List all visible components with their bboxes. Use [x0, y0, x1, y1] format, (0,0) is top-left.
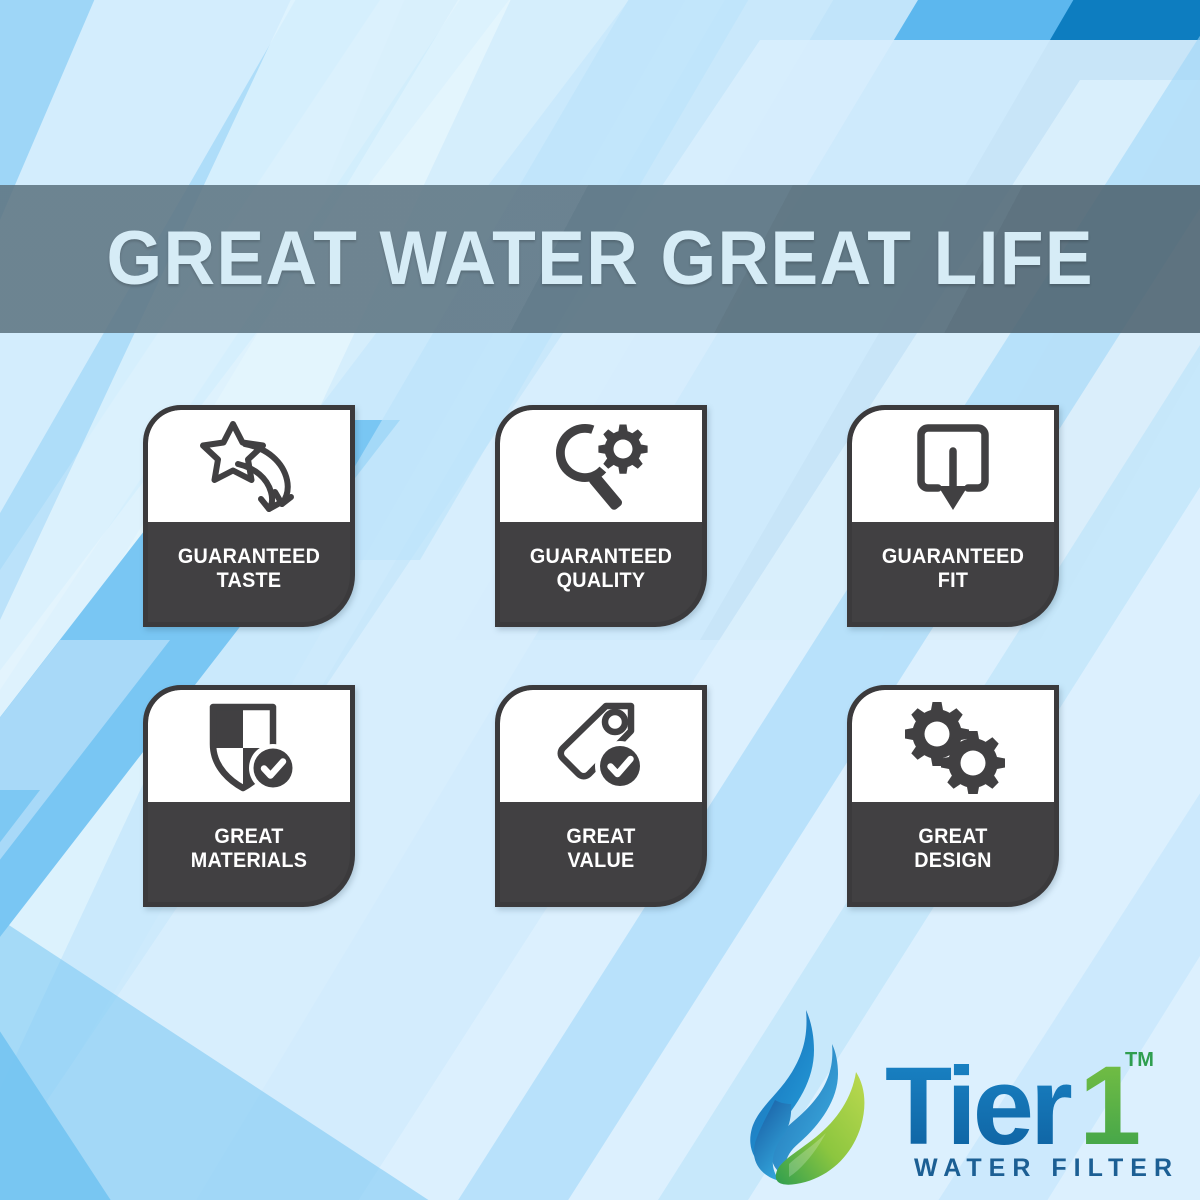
feature-card-guaranteed-fit[interactable]: GUARANTEED FIT [847, 405, 1059, 627]
price-tag-check-icon [500, 690, 702, 802]
feature-card-guaranteed-taste[interactable]: GUARANTEED TASTE [143, 405, 355, 627]
feature-card-label: GREAT MATERIALS [156, 802, 342, 902]
feature-card-great-materials[interactable]: GREAT MATERIALS [143, 685, 355, 907]
logo-brand-tier: Tier [885, 1045, 1072, 1168]
feature-card-great-value[interactable]: GREAT VALUE [495, 685, 707, 907]
feature-card-guaranteed-quality[interactable]: GUARANTEED QUALITY [495, 405, 707, 627]
magnifier-gear-icon [500, 410, 702, 522]
insert-down-arrow-icon [852, 410, 1054, 522]
logo-trademark: TM [1125, 1049, 1154, 1071]
feature-card-label: GREAT VALUE [508, 802, 694, 902]
logo-tagline: WATER FILTERS [914, 1154, 1172, 1182]
page-title: GREAT WATER GREAT LIFE [106, 221, 1093, 297]
feature-card-label: GUARANTEED QUALITY [508, 522, 694, 622]
poster-root: GREAT WATER GREAT LIFE GUARANTEED TASTE [0, 0, 1200, 1200]
feature-card-label: GREAT DESIGN [860, 802, 1046, 902]
feature-card-label: GUARANTEED TASTE [156, 522, 342, 622]
feature-card-label: GUARANTEED FIT [860, 522, 1046, 622]
feature-card-great-design[interactable]: GREAT DESIGN [847, 685, 1059, 907]
two-gears-icon [852, 690, 1054, 802]
shooting-star-icon [148, 410, 350, 522]
shield-check-icon [148, 690, 350, 802]
water-drop-leaf-mark [750, 1010, 864, 1185]
tier1-logo[interactable]: Tier 1 TM WATER FILTERS [742, 1004, 1172, 1188]
